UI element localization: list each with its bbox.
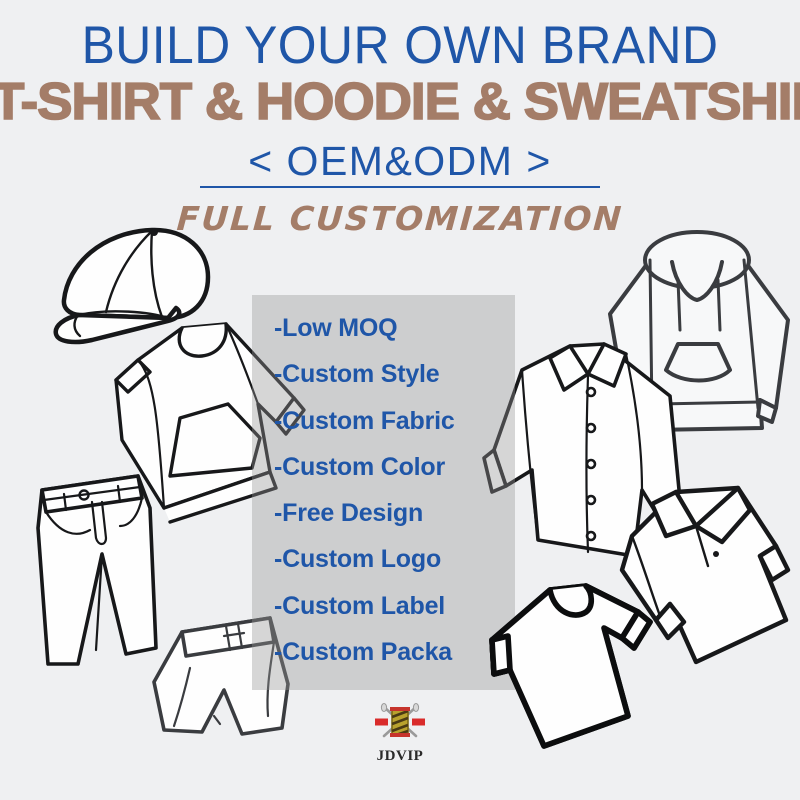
thread-spool-icon [373, 702, 427, 742]
feature-item-custom-style: -Custom Style [274, 360, 524, 389]
headline-divider-rule [200, 186, 600, 188]
headline-line-1: BUILD YOUR OWN BRAND [24, 18, 776, 74]
brand-logo: JDVIP [340, 702, 460, 765]
logo-wordmark: JDVIP [340, 748, 460, 765]
headline-oem-odm: < OEM&ODM > [0, 138, 800, 184]
headline-line-2: T-SHIRT & HOODIE & SWEATSHIRT [0, 74, 800, 130]
feature-item-free-design: -Free Design [274, 499, 524, 528]
feature-item-custom-fabric: -Custom Fabric [274, 407, 524, 436]
feature-item-custom-logo: -Custom Logo [274, 545, 524, 574]
feature-item-low-moq: -Low MOQ [274, 314, 524, 343]
feature-item-custom-color: -Custom Color [274, 453, 524, 482]
t-shirt-overlay-illustration [482, 578, 682, 758]
promo-banner: BUILD YOUR OWN BRAND T-SHIRT & HOODIE & … [0, 0, 800, 800]
